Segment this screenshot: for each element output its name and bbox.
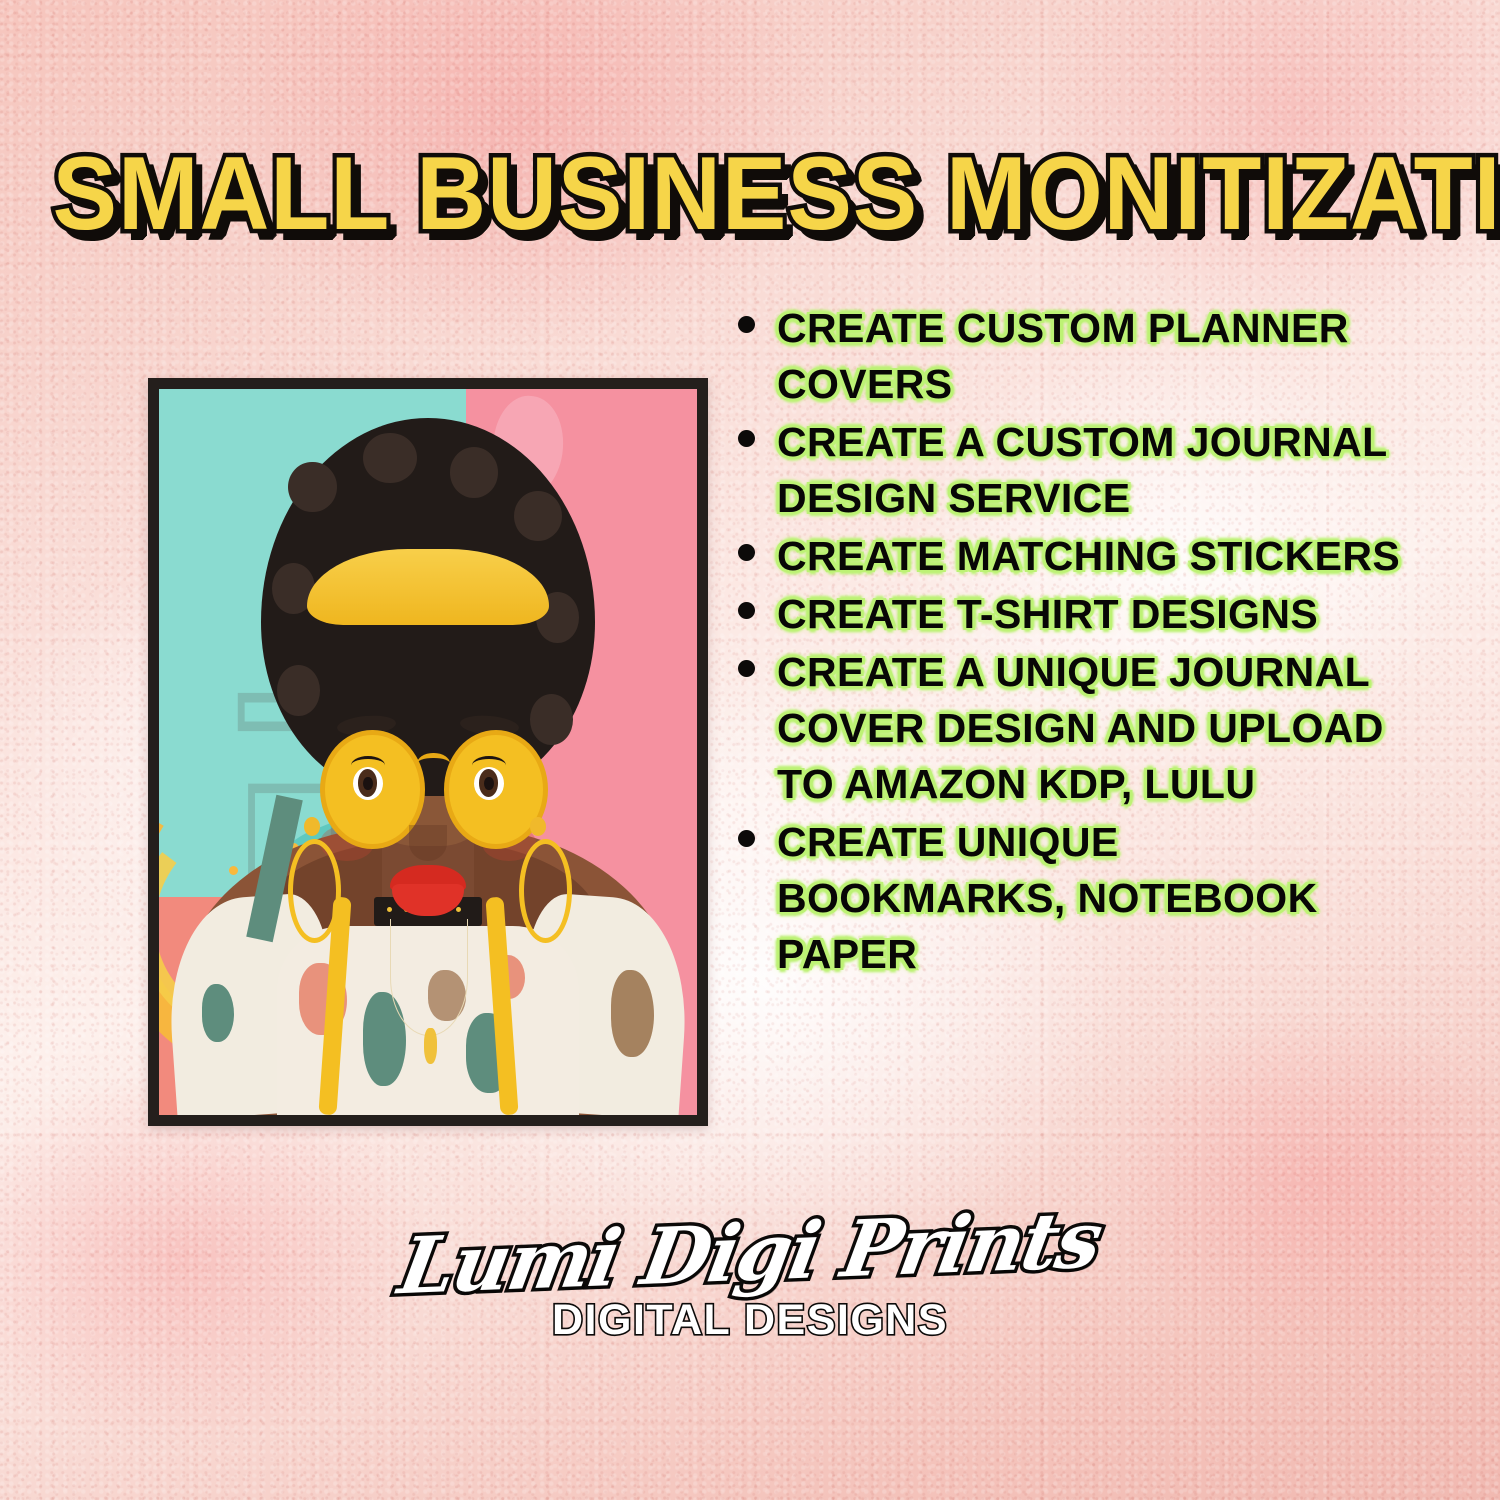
artwork-frame [148,378,708,1126]
brand-tagline: DIGITAL DESIGNS [0,1296,1500,1345]
art-earring-hoop-left [288,839,341,943]
art-necklace-chain [390,919,467,1036]
bullet-point-icon [738,544,755,561]
art-nose [409,825,447,861]
art-pupil-left [363,777,373,791]
list-item-label: CREATE CUSTOM PLANNER COVERS [777,300,1418,412]
art-necklace-pendant [424,1028,437,1064]
art-hair-texture [450,447,498,498]
brand-logo: Lumi Digi Prints DIGITAL DESIGNS [0,1208,1500,1345]
list-item-label: CREATE UNIQUE BOOKMARKS, NOTEBOOK PAPER [777,814,1418,982]
art-pupil-right [484,777,494,791]
list-item[interactable]: CREATE A UNIQUE JOURNAL COVER DESIGN AND… [728,644,1418,812]
list-item[interactable]: CREATE A CUSTOM JOURNAL DESIGN SERVICE [728,414,1418,526]
list-item[interactable]: CREATE CUSTOM PLANNER COVERS [728,300,1418,412]
list-item-label: CREATE T-SHIRT DESIGNS [777,586,1418,642]
list-item-label: CREATE A UNIQUE JOURNAL COVER DESIGN AND… [777,644,1418,812]
bullet-point-icon [738,316,755,333]
art-fabric-patch [202,984,234,1042]
bullet-point-icon [738,830,755,847]
list-item[interactable]: CREATE UNIQUE BOOKMARKS, NOTEBOOK PAPER [728,814,1418,982]
list-item-label: CREATE MATCHING STICKERS [777,528,1418,584]
art-hair-texture [363,433,417,484]
art-hair-texture [277,665,320,716]
ideas-list: CREATE CUSTOM PLANNER COVERS CREATE A CU… [728,300,1418,984]
art-sunglasses-bridge [417,753,449,774]
list-item[interactable]: CREATE T-SHIRT DESIGNS [728,586,1418,642]
bullet-point-icon [738,430,755,447]
bullet-point-icon [738,660,755,677]
list-item-label: CREATE A CUSTOM JOURNAL DESIGN SERVICE [777,414,1418,526]
page-title: SMALL BUSINESS MONITIZATION IDEAS [53,142,1448,246]
artwork-illustration [159,389,697,1115]
list-item[interactable]: CREATE MATCHING STICKERS [728,528,1418,584]
art-eyelashes-left [351,756,385,775]
bullet-point-icon [738,602,755,619]
art-fabric-patch [611,970,654,1057]
brand-name: Lumi Digi Prints [393,1195,1108,1314]
art-hair-texture [530,694,573,745]
art-hair-texture [288,462,336,513]
art-eyelashes-right [472,756,506,775]
poster-canvas: SMALL BUSINESS MONITIZATION IDEAS [0,0,1500,1500]
